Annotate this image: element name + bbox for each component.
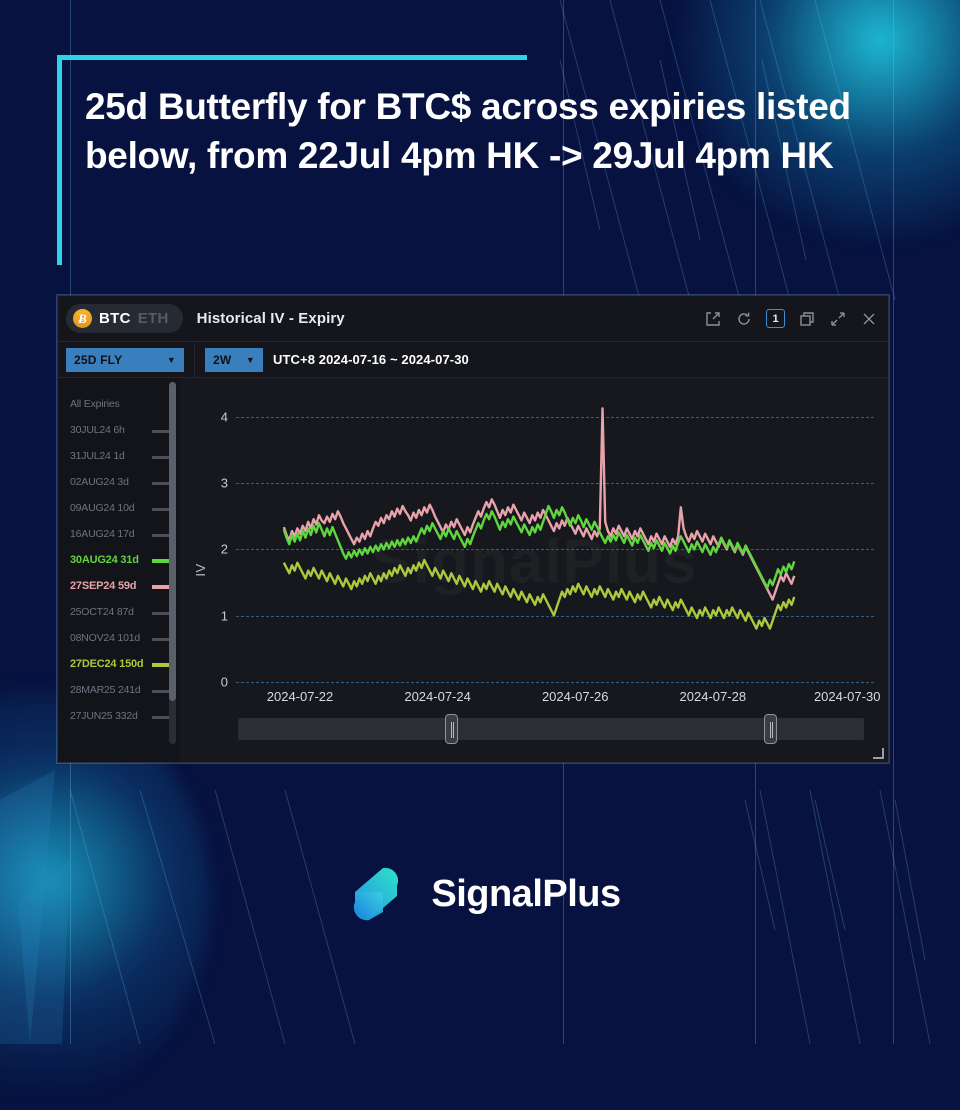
x-axis-tick: 2024-07-24 — [404, 689, 471, 704]
duplicate-icon[interactable] — [798, 310, 816, 328]
legend-item-label: 30JUL24 6h — [70, 424, 125, 437]
legend-item-27sep24[interactable]: 27SEP24 59d — [70, 574, 174, 600]
legend-item-30jul24[interactable]: 30JUL24 6h — [70, 418, 174, 444]
resize-corner-handle[interactable] — [873, 748, 884, 759]
legend-item-16aug24[interactable]: 16AUG24 17d — [70, 522, 174, 548]
y-axis-tick: 0 — [206, 675, 228, 690]
chart-series-group — [236, 390, 874, 680]
asset-tab-eth[interactable]: ETH — [138, 310, 169, 327]
range-slider-right-handle[interactable] — [764, 714, 777, 744]
accent-bar-left — [57, 55, 62, 265]
legend-item-label: 08NOV24 101d — [70, 632, 140, 645]
legend-item-08nov24[interactable]: 08NOV24 101d — [70, 626, 174, 652]
series-line-27dec24 — [284, 560, 794, 629]
accent-bar-top — [57, 55, 527, 60]
panel-control-bar: 25D FLY ▼ 2W ▼ UTC+8 2024-07-16 ~ 2024-0… — [58, 342, 888, 378]
expiry-legend-sidebar: All Expiries30JUL24 6h31JUL24 1d02AUG24 … — [58, 378, 180, 762]
tenor-select-value: 2W — [213, 353, 231, 367]
legend-item-28mar25[interactable]: 28MAR25 241d — [70, 678, 174, 704]
legend-item-label: 31JUL24 1d — [70, 450, 125, 463]
refresh-icon[interactable] — [735, 310, 753, 328]
legend-item-label: 16AUG24 17d — [70, 528, 134, 541]
y-axis-tick: 3 — [206, 475, 228, 490]
tenor-select[interactable]: 2W ▼ — [205, 348, 263, 372]
signalplus-logo-icon — [339, 862, 413, 926]
panel-title: Historical IV - Expiry — [197, 310, 345, 327]
x-axis-tick: 2024-07-30 — [814, 689, 881, 704]
bitcoin-icon: Ƀ — [73, 309, 92, 328]
legend-item-label: 27DEC24 150d — [70, 658, 143, 672]
asset-tab-btc[interactable]: BTC — [99, 310, 131, 327]
asset-toggle[interactable]: Ƀ BTC ETH — [66, 304, 183, 333]
historical-iv-panel: Ƀ BTC ETH Historical IV - Expiry 1 — [57, 295, 889, 763]
x-axis-tick: 2024-07-22 — [267, 689, 334, 704]
range-slider-left-handle[interactable] — [445, 714, 458, 744]
panel-title-bar: Ƀ BTC ETH Historical IV - Expiry 1 — [58, 296, 888, 342]
page-title: 25d Butterfly for BTC$ across expiries l… — [57, 55, 907, 181]
series-line-30aug24 — [284, 506, 794, 588]
legend-item-30aug24[interactable]: 30AUG24 31d — [70, 548, 174, 574]
panel-body: All Expiries30JUL24 6h31JUL24 1d02AUG24 … — [58, 378, 888, 762]
y-axis-tick: 4 — [206, 409, 228, 424]
legend-item-09aug24[interactable]: 09AUG24 10d — [70, 496, 174, 522]
iv-chart: SignalPlus IV 01234 2024-07-222024-07-24… — [180, 378, 888, 762]
legend-item-label: 27SEP24 59d — [70, 580, 136, 594]
date-range-label[interactable]: UTC+8 2024-07-16 ~ 2024-07-30 — [273, 352, 469, 367]
legend-item-label: 09AUG24 10d — [70, 502, 134, 515]
legend-item-25oct24[interactable]: 25OCT24 87d — [70, 600, 174, 626]
open-external-icon[interactable] — [704, 310, 722, 328]
expand-icon[interactable] — [829, 310, 847, 328]
legend-header[interactable]: All Expiries — [70, 392, 174, 418]
metric-select-value: 25D FLY — [74, 353, 122, 367]
legend-scrollbar[interactable] — [169, 382, 176, 744]
chevron-down-icon: ▼ — [167, 355, 176, 365]
legend-item-label: 30AUG24 31d — [70, 554, 139, 568]
range-slider[interactable] — [238, 718, 864, 740]
legend-item-label: 25OCT24 87d — [70, 606, 134, 619]
legend-item-label: 27JUN25 332d — [70, 710, 138, 723]
x-axis-tick: 2024-07-26 — [542, 689, 609, 704]
metric-select[interactable]: 25D FLY ▼ — [66, 348, 184, 372]
legend-item-27jun25[interactable]: 27JUN25 332d — [70, 704, 174, 730]
divider — [194, 343, 195, 377]
series-line-27sep24 — [284, 408, 794, 599]
y-axis-tick: 1 — [206, 608, 228, 623]
legend-header-label: All Expiries — [70, 398, 120, 411]
chevron-down-icon: ▼ — [246, 355, 255, 365]
close-icon[interactable] — [860, 310, 878, 328]
page-badge[interactable]: 1 — [766, 309, 785, 328]
y-axis-label: IV — [193, 563, 208, 576]
legend-item-02aug24[interactable]: 02AUG24 3d — [70, 470, 174, 496]
grid-line — [236, 682, 874, 683]
y-axis-tick: 2 — [206, 542, 228, 557]
legend-item-27dec24[interactable]: 27DEC24 150d — [70, 652, 174, 678]
panel-actions: 1 — [704, 309, 878, 328]
chart-plot-area — [236, 390, 874, 680]
expiry-legend-list: All Expiries30JUL24 6h31JUL24 1d02AUG24 … — [58, 392, 180, 730]
headline-block: 25d Butterfly for BTC$ across expiries l… — [57, 55, 917, 181]
x-axis-tick: 2024-07-28 — [680, 689, 747, 704]
brand-name: SignalPlus — [431, 873, 620, 916]
legend-item-label: 02AUG24 3d — [70, 476, 129, 489]
brand-footer: SignalPlus — [0, 862, 960, 926]
legend-item-label: 28MAR25 241d — [70, 684, 141, 697]
legend-item-31jul24[interactable]: 31JUL24 1d — [70, 444, 174, 470]
